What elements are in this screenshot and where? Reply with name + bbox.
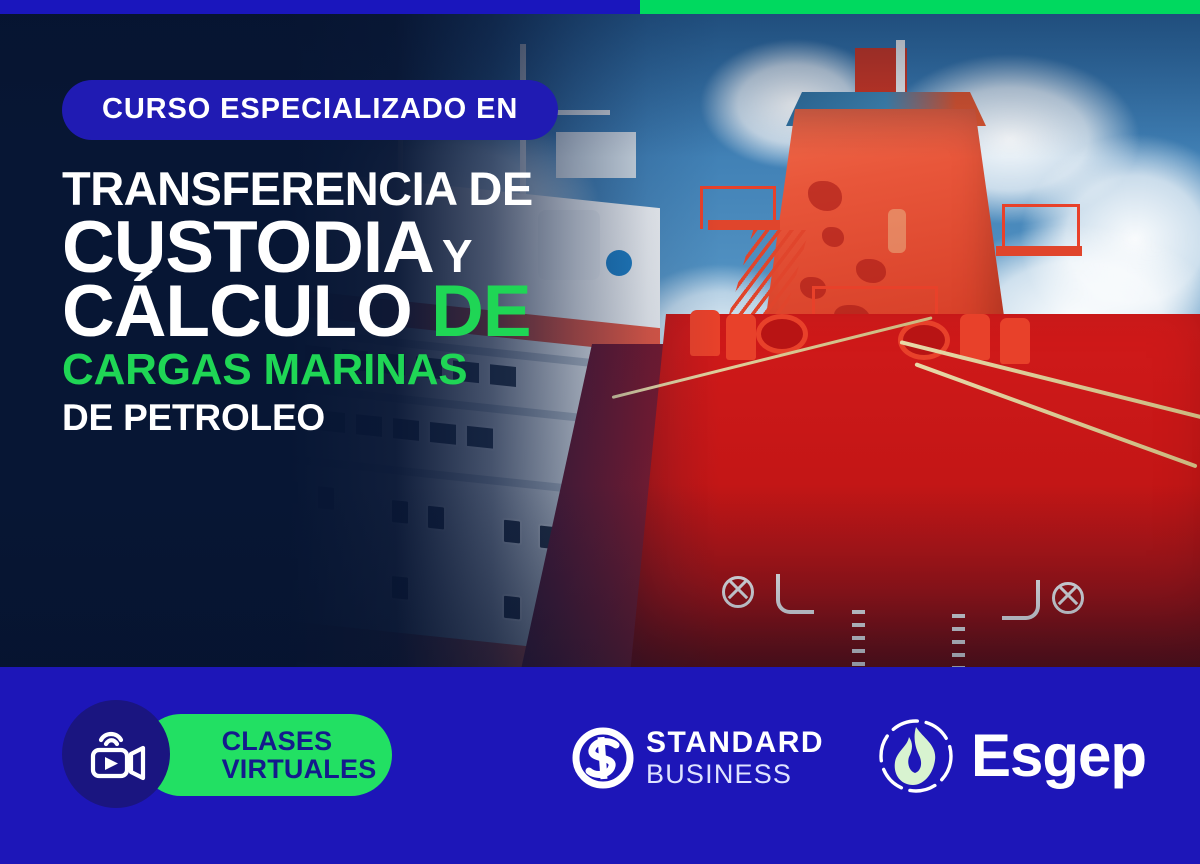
- course-type-badge: CURSO ESPECIALIZADO EN: [62, 80, 558, 140]
- title-line-4: CARGAS MARINAS: [62, 349, 582, 391]
- footer-bar: CLASES VIRTUALES STA: [0, 667, 1200, 864]
- flame-in-dashed-circle-icon: [875, 715, 957, 797]
- esgep-logo: Esgep: [875, 715, 1146, 797]
- course-promo-banner: CURSO ESPECIALIZADO EN TRANSFERENCIA DE …: [0, 0, 1200, 864]
- business-line: BUSINESS: [646, 761, 824, 788]
- top-accent-blue-segment: [0, 0, 640, 14]
- circular-s-mark-icon: [572, 727, 634, 789]
- title-de: DE: [431, 271, 530, 352]
- esgep-wordmark: Esgep: [971, 726, 1146, 786]
- virtual-classes-pill: CLASES VIRTUALES: [140, 714, 392, 796]
- course-title: TRANSFERENCIA DE CUSTODIAY CÁLCULO DE CA…: [62, 166, 582, 435]
- top-accent-green-segment: [640, 0, 1200, 14]
- standard-business-logo: STANDARD BUSINESS: [572, 727, 824, 789]
- virtual-line-2: VIRTUALES: [222, 755, 377, 783]
- title-line-1: TRANSFERENCIA DE: [62, 166, 582, 211]
- virtual-classes-icon-circle: [62, 700, 170, 808]
- title-line-5: DE PETROLEO: [62, 400, 582, 436]
- standard-business-wordmark: STANDARD BUSINESS: [646, 728, 824, 788]
- virtual-classes-badge: CLASES VIRTUALES: [62, 700, 392, 808]
- top-accent-bar: [0, 0, 1200, 14]
- virtual-classes-label: CLASES VIRTUALES: [156, 727, 377, 784]
- virtual-line-1: CLASES: [222, 727, 377, 755]
- video-camera-streaming-icon: [85, 726, 147, 782]
- title-calculo: CÁLCULO: [62, 271, 412, 352]
- headline-block: CURSO ESPECIALIZADO EN TRANSFERENCIA DE …: [62, 80, 582, 435]
- standard-line: STANDARD: [646, 728, 824, 758]
- title-line-3: CÁLCULO DE: [62, 277, 582, 347]
